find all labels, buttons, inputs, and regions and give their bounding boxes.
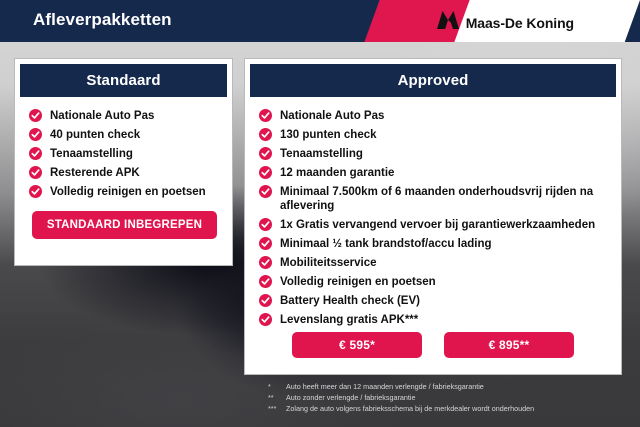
footnote-mark: * — [268, 381, 286, 392]
check-circle-icon — [259, 237, 272, 250]
feature-label: Nationale Auto Pas — [280, 109, 390, 123]
check-circle-icon — [259, 218, 272, 231]
list-item: 40 punten check — [29, 128, 232, 142]
list-item: Tenaamstelling — [259, 147, 621, 161]
feature-label: Minimaal ½ tank brandstof/accu lading — [280, 237, 498, 251]
feature-label: Mobiliteitsservice — [280, 256, 383, 270]
page-title: Afleverpakketten — [33, 10, 172, 30]
check-circle-icon — [29, 147, 42, 160]
footnotes: * Auto heeft meer dan 12 maanden verleng… — [268, 381, 628, 414]
feature-list-standaard: Nationale Auto Pas 40 punten check — [29, 109, 232, 199]
page-header: Afleverpakketten Maas-De Koning — [0, 0, 640, 42]
list-item: Levenslang gratis APK*** — [259, 313, 621, 327]
feature-label: 12 maanden garantie — [280, 166, 400, 180]
list-item: Resterende APK — [29, 166, 232, 180]
footnote-text: Auto zonder verlengde / fabrieksgarantie — [286, 392, 628, 403]
list-item: Minimaal ½ tank brandstof/accu lading — [259, 237, 621, 251]
feature-label: 40 punten check — [50, 128, 146, 142]
list-item: Nationale Auto Pas — [259, 109, 621, 123]
feature-label: Nationale Auto Pas — [50, 109, 160, 123]
footnote-mark: ** — [268, 392, 286, 403]
price-button-row: € 595* € 895** — [245, 332, 621, 358]
card-title-standaard: Standaard — [20, 64, 227, 97]
list-item: Volledig reinigen en poetsen — [29, 185, 232, 199]
feature-label: Resterende APK — [50, 166, 146, 180]
feature-label: 130 punten check — [280, 128, 383, 142]
footnote-triple-asterisk: *** Zolang de auto volgens fabrieksschem… — [268, 403, 628, 414]
check-circle-icon — [259, 166, 272, 179]
feature-label: Tenaamstelling — [280, 147, 369, 161]
card-title-approved: Approved — [250, 64, 616, 97]
check-circle-icon — [259, 294, 272, 307]
feature-label: Battery Health check (EV) — [280, 294, 426, 308]
package-card-standaard: Standaard Nationale Auto Pas — [14, 58, 233, 266]
price-button-595[interactable]: € 595* — [292, 332, 422, 358]
check-circle-icon — [259, 109, 272, 122]
brand-name: Maas-De Koning — [466, 15, 574, 31]
standaard-inbegrepen-button[interactable]: STANDAARD INBEGREPEN — [32, 211, 217, 239]
feature-label: Minimaal 7.500km of 6 maanden onderhouds… — [280, 185, 621, 213]
list-item: Volledig reinigen en poetsen — [259, 275, 621, 289]
delivery-packages-slide: Afleverpakketten Maas-De Koning Standaar… — [0, 0, 640, 427]
footnote-single-asterisk: * Auto heeft meer dan 12 maanden verleng… — [268, 381, 628, 392]
check-circle-icon — [259, 256, 272, 269]
feature-list-approved: Nationale Auto Pas 130 punten check — [259, 109, 621, 327]
check-circle-icon — [259, 313, 272, 326]
price-button-895[interactable]: € 895** — [444, 332, 574, 358]
check-circle-icon — [29, 185, 42, 198]
feature-label: Volledig reinigen en poetsen — [50, 185, 212, 199]
package-card-approved: Approved Nationale Auto Pas — [244, 58, 622, 375]
list-item: Nationale Auto Pas — [29, 109, 232, 123]
list-item: 12 maanden garantie — [259, 166, 621, 180]
feature-label: Volledig reinigen en poetsen — [280, 275, 442, 289]
list-item: Minimaal 7.500km of 6 maanden onderhouds… — [259, 185, 621, 213]
check-circle-icon — [29, 166, 42, 179]
footnote-text: Auto heeft meer dan 12 maanden verlengde… — [286, 381, 628, 392]
feature-label: Levenslang gratis APK*** — [280, 313, 424, 327]
feature-label: Tenaamstelling — [50, 147, 139, 161]
list-item: Battery Health check (EV) — [259, 294, 621, 308]
footnote-mark: *** — [268, 403, 286, 414]
footnote-text: Zolang de auto volgens fabrieksschema bi… — [286, 403, 628, 414]
list-item: 1x Gratis vervangend vervoer bij garanti… — [259, 218, 621, 232]
feature-label: 1x Gratis vervangend vervoer bij garanti… — [280, 218, 601, 232]
list-item: Tenaamstelling — [29, 147, 232, 161]
check-circle-icon — [29, 128, 42, 141]
maas-de-koning-m-logo-icon — [437, 11, 459, 34]
check-circle-icon — [259, 185, 272, 198]
brand-lockup: Maas-De Koning — [437, 11, 574, 34]
check-circle-icon — [259, 128, 272, 141]
check-circle-icon — [259, 275, 272, 288]
check-circle-icon — [29, 109, 42, 122]
check-circle-icon — [259, 147, 272, 160]
list-item: Mobiliteitsservice — [259, 256, 621, 270]
footnote-double-asterisk: ** Auto zonder verlengde / fabrieksgaran… — [268, 392, 628, 403]
list-item: 130 punten check — [259, 128, 621, 142]
